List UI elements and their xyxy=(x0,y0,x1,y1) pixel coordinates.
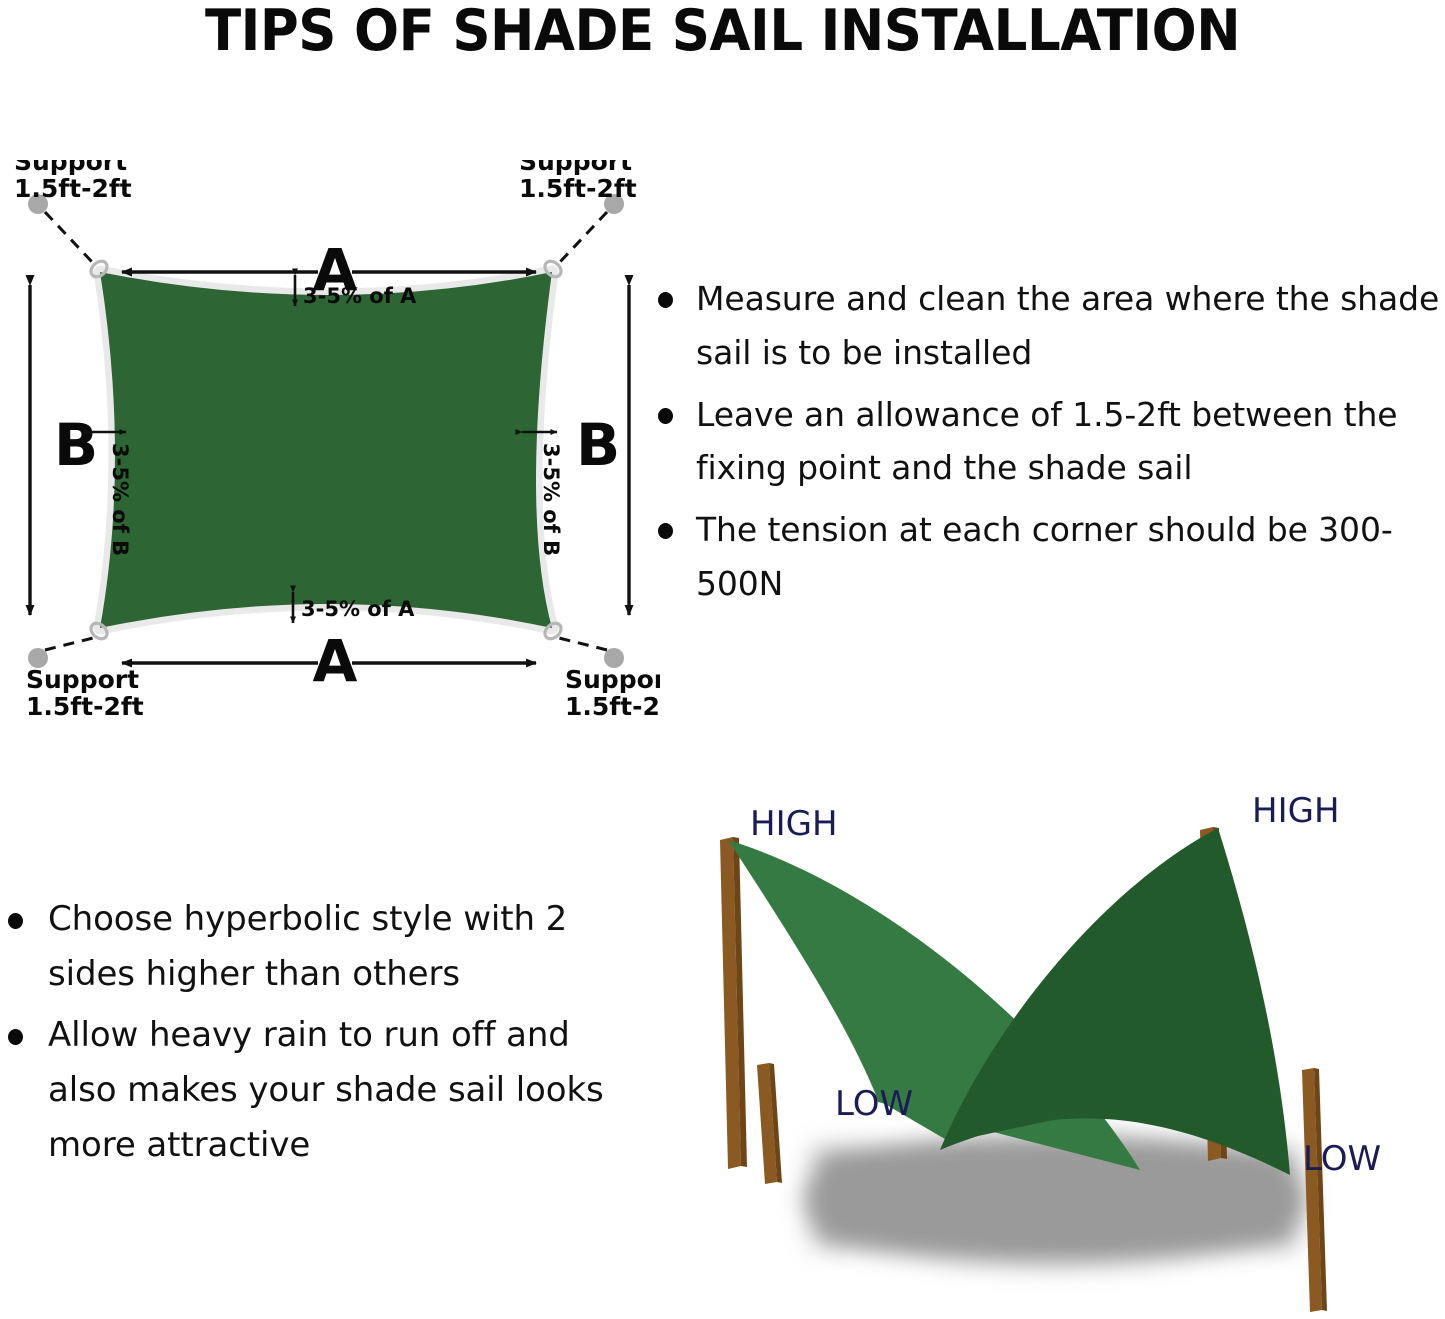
label-curve-left: 3-5% of B xyxy=(108,443,132,556)
label-curve-bottom: 3-5% of A xyxy=(301,597,415,621)
bullet-dot-icon xyxy=(8,913,23,929)
bullet-dot-icon xyxy=(8,1029,23,1045)
hyperbolic-sail-diagram: HIGH HIGH LOW LOW xyxy=(640,780,1445,1319)
label-a-bottom: A xyxy=(313,627,358,695)
support-label-bottom-right-line2: 1.5ft-2ft xyxy=(565,692,660,721)
rect-sail-diagram: A A B B 3-5% of A 3-5% of A xyxy=(0,160,660,740)
bullet-dot-icon xyxy=(658,408,673,424)
bullet-dot-icon xyxy=(658,292,673,308)
ground-shadow-block xyxy=(815,1150,1295,1245)
support-leader-top-left xyxy=(45,212,93,263)
label-high-left: HIGH xyxy=(750,804,838,844)
support-leader-top-right xyxy=(559,212,607,263)
label-curve-right: 3-5% of B xyxy=(539,443,563,556)
support-label-bottom-right-line1: Support xyxy=(565,665,660,694)
tip-text: Choose hyperbolic style with 2 sides hig… xyxy=(48,899,567,994)
tip-text: Leave an allowance of 1.5-2ft between th… xyxy=(696,395,1398,488)
tip-text: Allow heavy rain to run off and also mak… xyxy=(48,1015,604,1165)
tip-item: Leave an allowance of 1.5-2ft between th… xyxy=(648,388,1445,496)
curve-depth-bottom: 3-5% of A xyxy=(293,592,415,623)
dimension-b-right: B xyxy=(576,285,629,615)
label-curve-top: 3-5% of A xyxy=(303,284,417,308)
label-b-right: B xyxy=(576,411,620,479)
support-label-top-right-line2: 1.5ft-2ft xyxy=(519,174,637,203)
label-b-left: B xyxy=(54,411,98,479)
tips-list-top: Measure and clean the area where the sha… xyxy=(648,272,1445,619)
tip-item: Measure and clean the area where the sha… xyxy=(648,272,1445,380)
label-low-left: LOW xyxy=(835,1084,913,1124)
dimension-a-bottom: A xyxy=(122,627,536,695)
label-low-right: LOW xyxy=(1303,1139,1381,1179)
tip-item: Choose hyperbolic style with 2 sides hig… xyxy=(2,892,617,1002)
page-title: TIPS OF SHADE SAIL INSTALLATION xyxy=(205,3,1240,60)
tips-list-bottom: Choose hyperbolic style with 2 sides hig… xyxy=(2,892,617,1179)
support-label-bottom-left-line1: Support xyxy=(26,665,139,694)
label-high-right: HIGH xyxy=(1252,791,1340,831)
bullet-dot-icon xyxy=(658,523,673,539)
tip-item: Allow heavy rain to run off and also mak… xyxy=(2,1008,617,1173)
tip-item: The tension at each corner should be 300… xyxy=(648,503,1445,611)
page-title-bar: TIPS OF SHADE SAIL INSTALLATION xyxy=(0,0,1445,62)
dimension-b-left: B xyxy=(30,285,98,615)
support-label-bottom-left-line2: 1.5ft-2ft xyxy=(26,692,144,721)
support-label-top-left-line2: 1.5ft-2ft xyxy=(14,174,132,203)
support-leader-bottom-right xyxy=(559,638,607,650)
support-leader-bottom-left xyxy=(45,638,93,650)
tip-text: Measure and clean the area where the sha… xyxy=(696,279,1439,372)
sail-body xyxy=(100,272,552,628)
sail-shape-group xyxy=(100,272,552,628)
tip-text: The tension at each corner should be 300… xyxy=(696,510,1393,603)
